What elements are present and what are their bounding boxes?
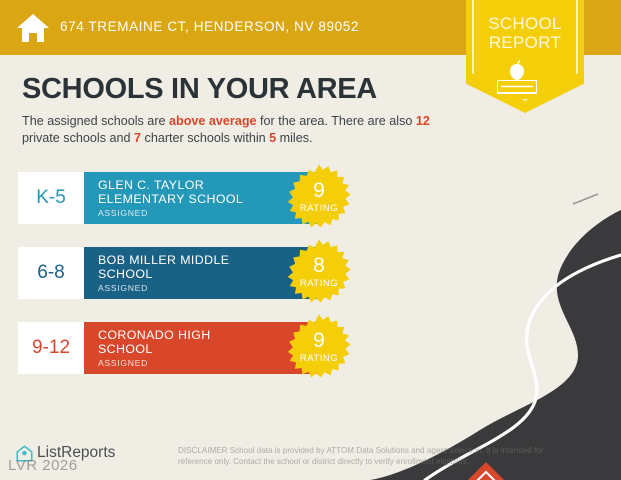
subtitle-part1: The assigned schools are (22, 114, 169, 128)
subtitle-part2: for the area. There are also (257, 114, 416, 128)
road-graphic (330, 180, 621, 480)
school-name: BOB MILLER MIDDLE SCHOOL (98, 253, 258, 281)
grade-label: 6-8 (37, 262, 64, 284)
rating-caption: RATING (284, 278, 354, 289)
book-icon (497, 80, 537, 94)
grade-box: 6-8 (18, 247, 84, 299)
grade-label: 9-12 (32, 337, 70, 359)
property-address: 674 TREMAINE CT, HENDERSON, NV 89052 (60, 19, 359, 34)
watermark: LVR 2026 (8, 457, 78, 474)
school-row[interactable]: K-5 GLEN C. TAYLOR ELEMENTARY SCHOOL ASS… (18, 172, 320, 224)
grade-label: K-5 (36, 187, 66, 209)
page-title: SCHOOLS IN YOUR AREA (22, 73, 377, 106)
rating-value: 8 (284, 254, 354, 278)
grade-box: 9-12 (18, 322, 84, 374)
grade-box: K-5 (18, 172, 84, 224)
subtitle-part4: charter schools within (141, 131, 269, 145)
badge-title: SCHOOL REPORT (466, 14, 584, 52)
road-illustration: 0.9 MILES 0.8 MILES 0.6 MILES (330, 180, 621, 480)
rating-value: 9 (284, 179, 354, 203)
disclaimer-text: DISCLAIMER School data is provided by AT… (178, 446, 556, 467)
subtitle-highlight-charter-count: 7 (134, 131, 141, 145)
apple-icon (505, 58, 529, 82)
rating-value: 9 (284, 329, 354, 353)
badge-title-line1: SCHOOL (466, 14, 584, 33)
home-icon (16, 12, 50, 44)
school-row[interactable]: 9-12 CORONADO HIGH SCHOOL ASSIGNED 9 RAT… (18, 322, 320, 374)
subtitle-part5: miles. (276, 131, 312, 145)
badge-title-line2: REPORT (466, 33, 584, 52)
subtitle-highlight-private-count: 12 (416, 114, 430, 128)
school-row[interactable]: 6-8 BOB MILLER MIDDLE SCHOOL ASSIGNED 8 … (18, 247, 320, 299)
rating-caption: RATING (284, 203, 354, 214)
school-name: CORONADO HIGH SCHOOL (98, 328, 258, 356)
subtitle-text: The assigned schools are above average f… (22, 113, 442, 147)
subtitle-part3: private schools and (22, 131, 134, 145)
school-report-infographic: 674 TREMAINE CT, HENDERSON, NV 89052 SCH… (0, 0, 621, 480)
rating-caption: RATING (284, 353, 354, 364)
school-name: GLEN C. TAYLOR ELEMENTARY SCHOOL (98, 178, 258, 206)
subtitle-highlight-above-average: above average (169, 114, 257, 128)
